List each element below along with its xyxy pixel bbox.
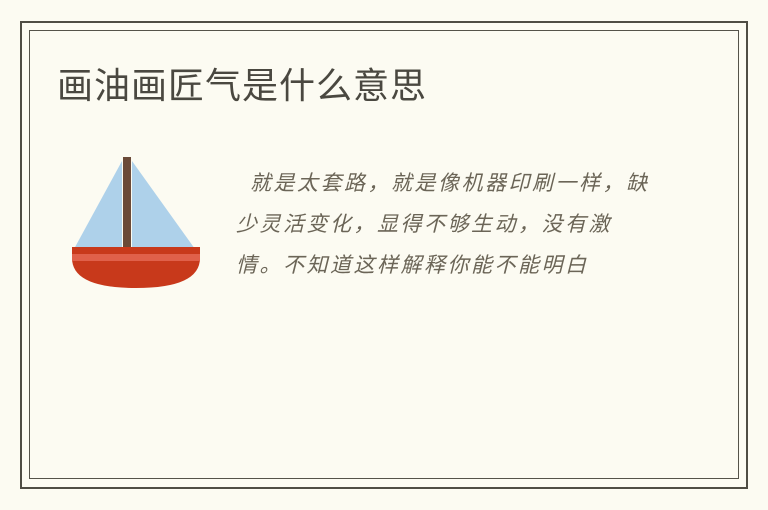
page-root: 画油画匠气是什么意思 就是太套路，就是像机器印刷一样，缺少灵活变化，显得不够生动…: [0, 0, 768, 510]
sailboat-svg: [70, 155, 202, 288]
answer-text: 就是太套路，就是像机器印刷一样，缺少灵活变化，显得不够生动，没有激情。不知道这样…: [236, 163, 656, 286]
hull-shape: [72, 247, 200, 288]
right-sail-shape: [132, 161, 195, 249]
page-title: 画油画匠气是什么意思: [57, 64, 427, 108]
left-sail-shape: [74, 161, 122, 249]
sailboat-icon: [70, 155, 202, 288]
mast-shape: [123, 157, 131, 255]
page-content: 画油画匠气是什么意思 就是太套路，就是像机器印刷一样，缺少灵活变化，显得不够生动…: [0, 0, 768, 510]
hull-stripe-shape: [72, 254, 200, 261]
